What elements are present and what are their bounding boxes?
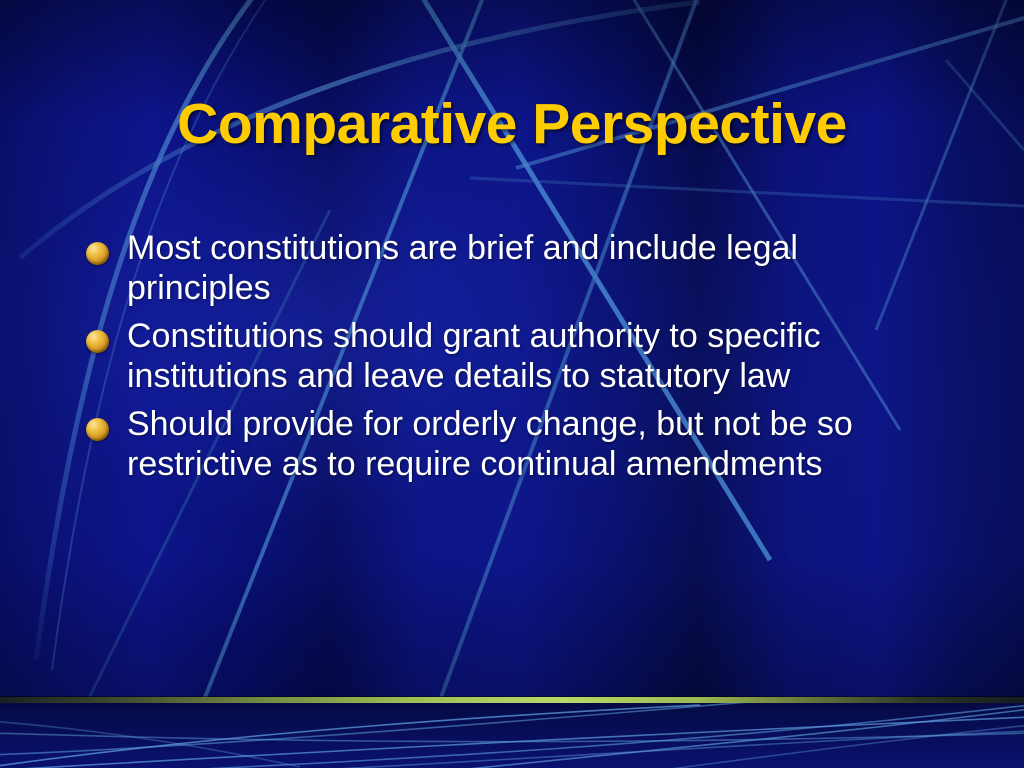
bullet-item: Most constitutions are brief and include… xyxy=(86,228,946,308)
slide-title: Comparative Perspective xyxy=(0,96,1024,153)
bullet-text: Should provide for orderly change, but n… xyxy=(127,404,946,484)
slide-footer-band xyxy=(0,703,1024,768)
footer-decorative-curves xyxy=(0,703,1024,768)
bullet-item: Constitutions should grant authority to … xyxy=(86,316,946,396)
gold-sphere-bullet-icon xyxy=(86,242,109,265)
presentation-slide: Comparative Perspective Most constitutio… xyxy=(0,0,1024,768)
bullet-text: Constitutions should grant authority to … xyxy=(127,316,946,396)
gold-sphere-bullet-icon xyxy=(86,418,109,441)
bullet-text: Most constitutions are brief and include… xyxy=(127,228,946,308)
bullet-item: Should provide for orderly change, but n… xyxy=(86,404,946,484)
slide-body-content: Most constitutions are brief and include… xyxy=(86,228,946,492)
gold-sphere-bullet-icon xyxy=(86,330,109,353)
